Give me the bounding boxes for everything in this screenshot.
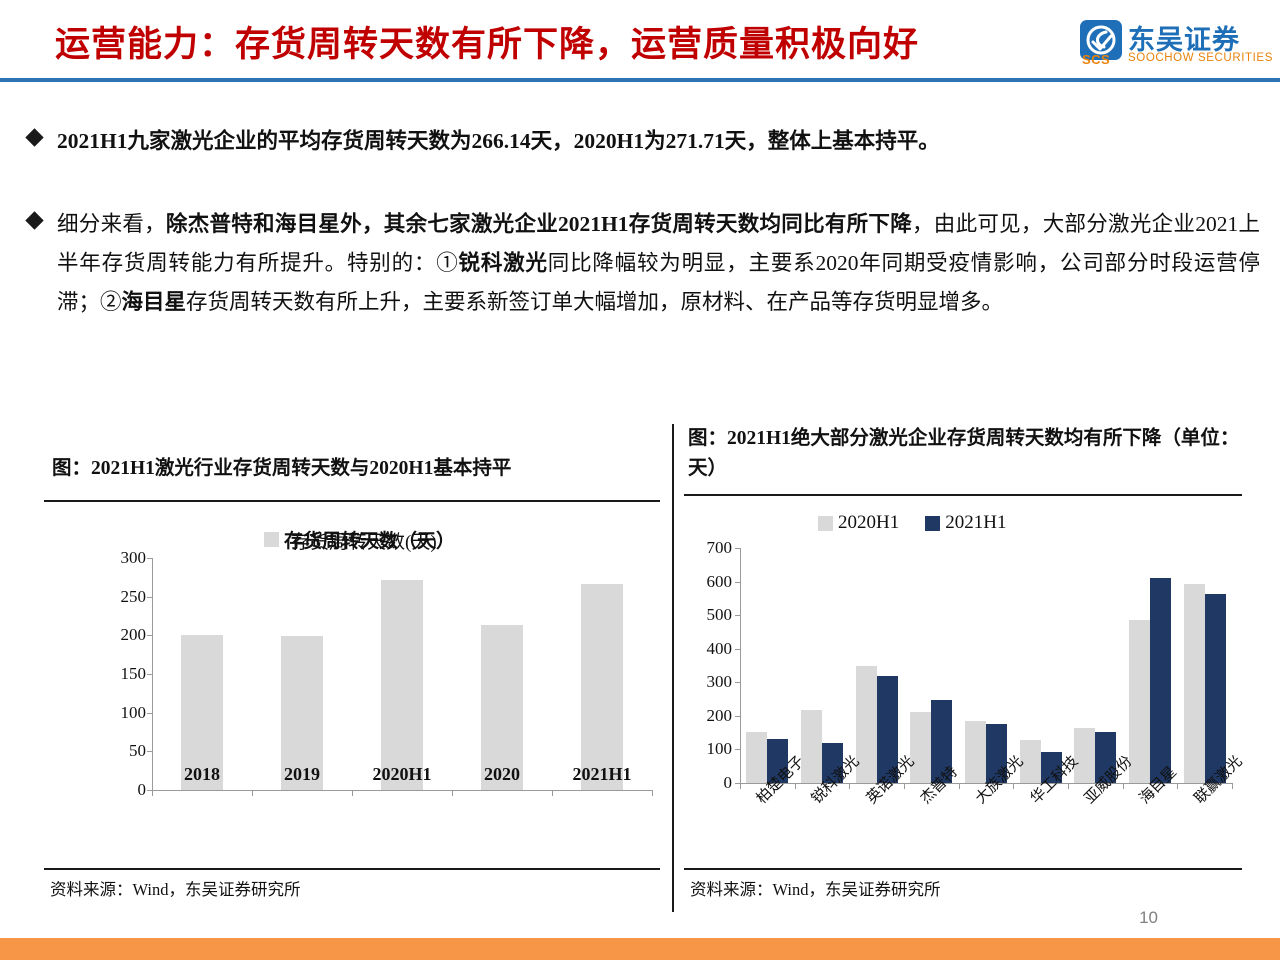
left-title-divider [44, 500, 660, 502]
bullet2-part1: 细分来看， [57, 212, 166, 236]
right-chart-plot-area [740, 548, 1232, 783]
x-axis-tick-mark [152, 790, 153, 796]
bullet2-bold1: 除杰普特和海目星外，其余七家激光企业2021H1存货周转天数均同比有所下降 [166, 212, 912, 236]
diamond-bullet-icon [25, 211, 43, 229]
y-axis-tick-label: 100 [100, 703, 146, 723]
bar-2020H1 [381, 580, 423, 790]
y-axis-tick-label: 300 [100, 548, 146, 568]
x-axis-label-2021H1: 2021H1 [547, 764, 657, 785]
y-axis-line [740, 548, 741, 783]
bullet2-bold2: 锐科激光 [459, 251, 548, 275]
logo-english-name: SOOCHOW SECURITIES [1128, 52, 1273, 64]
legend-item-inventory-days: 存货周转天数（天）存货周转天数(天) [264, 526, 455, 553]
x-axis-tick-mark [1068, 783, 1069, 789]
footer-accent-bar [0, 938, 1280, 960]
y-axis-tick-mark [735, 682, 741, 683]
x-axis-label-2018: 2018 [147, 764, 257, 785]
left-source-note: 资料来源：Wind，东吴证券研究所 [50, 876, 301, 900]
header-divider [0, 78, 1280, 82]
y-axis-tick-label: 500 [686, 605, 732, 625]
y-axis-tick-label: 100 [686, 739, 732, 759]
right-chart-title: 图：2021H1绝大部分激光企业存货周转天数均有所下降（单位：天） [688, 424, 1244, 484]
x-axis-tick-mark [252, 790, 253, 796]
bar-杰普特-2020H1 [910, 712, 931, 783]
bar-亚威股份-2020H1 [1074, 728, 1095, 783]
x-axis-label-2020: 2020 [447, 764, 557, 785]
bar-联赢激光-2021H1 [1205, 594, 1226, 783]
y-axis-tick-label: 600 [686, 572, 732, 592]
x-axis-tick-mark [1177, 783, 1178, 789]
x-axis-tick-mark [795, 783, 796, 789]
y-axis-tick-label: 400 [686, 639, 732, 659]
page-number: 10 [1139, 908, 1158, 928]
y-axis-tick-label: 700 [686, 538, 732, 558]
legend-swatch-icon [925, 516, 940, 531]
legend-label-2021h1: 2021H1 [945, 512, 1006, 534]
legend-label-inventory-days: 存货周转天数（天）存货周转天数(天) [284, 526, 455, 553]
legend-swatch-icon [818, 516, 833, 531]
x-axis-label-2019: 2019 [247, 764, 357, 785]
bar-联赢激光-2020H1 [1184, 584, 1205, 783]
y-axis-tick-mark [735, 749, 741, 750]
slide-header: 运营能力：存货周转天数有所下降，运营质量积极向好 SCS 东吴证券 SOOCHO… [0, 0, 1280, 88]
y-axis-tick-mark [735, 716, 741, 717]
x-axis-tick-mark [849, 783, 850, 789]
x-axis-line [152, 790, 652, 791]
y-axis-tick-mark [147, 558, 153, 559]
bar-锐科激光-2020H1 [801, 710, 822, 783]
right-source-divider [684, 868, 1242, 870]
panel-divider [672, 424, 674, 912]
x-axis-tick-mark [652, 790, 653, 796]
left-chart-plot-area [152, 558, 652, 790]
left-bar-chart: 存货周转天数（天）存货周转天数(天) 050100150200250300 20… [36, 520, 666, 860]
y-axis-tick-label: 50 [100, 741, 146, 761]
legend-item-2021h1: 2021H1 [925, 512, 1006, 534]
right-source-note: 资料来源：Wind，东吴证券研究所 [690, 876, 941, 900]
y-axis-tick-label: 150 [100, 664, 146, 684]
bar-海目星-2021H1 [1150, 578, 1171, 783]
y-axis-tick-label: 250 [100, 587, 146, 607]
left-chart-panel: 图：2021H1激光行业存货周转天数与2020H1基本持平 存货周转天数（天）存… [36, 424, 666, 912]
bar-海目星-2020H1 [1129, 620, 1150, 783]
left-chart-y-axis: 050100150200250300 [94, 558, 146, 790]
y-axis-tick-mark [735, 615, 741, 616]
y-axis-tick-label: 0 [100, 780, 146, 800]
y-axis-tick-label: 300 [686, 672, 732, 692]
right-chart-panel: 图：2021H1绝大部分激光企业存货周转天数均有所下降（单位：天） 2020H1… [680, 424, 1246, 912]
x-axis-tick-mark [352, 790, 353, 796]
bullet-text-1: 2021H1九家激光企业的平均存货周转天数为266.14天，2020H1为271… [57, 122, 940, 161]
left-chart-title: 图：2021H1激光行业存货周转天数与2020H1基本持平 [52, 454, 652, 484]
legend-label-ghost: 存货周转天数(天) [291, 527, 437, 554]
bullet-item-1: 2021H1九家激光企业的平均存货周转天数为266.14天，2020H1为271… [28, 122, 1258, 161]
bar-柏楚电子-2020H1 [746, 732, 767, 783]
bullet2-bold3: 海目星 [122, 290, 187, 314]
x-axis-tick-mark [904, 783, 905, 789]
y-axis-tick-mark [147, 674, 153, 675]
x-axis-tick-mark [740, 783, 741, 789]
legend-label-2020h1: 2020H1 [838, 512, 899, 534]
y-axis-tick-mark [147, 713, 153, 714]
y-axis-tick-label: 200 [686, 706, 732, 726]
soochow-securities-logo: SCS 东吴证券 SOOCHOW SECURITIES [1080, 18, 1270, 74]
bar-2021H1 [581, 584, 623, 790]
left-source-divider [44, 868, 660, 870]
bullet-text-2: 细分来看，除杰普特和海目星外，其余七家激光企业2021H1存货周转天数均同比有所… [57, 205, 1260, 322]
right-title-divider [684, 494, 1242, 496]
y-axis-tick-mark [147, 751, 153, 752]
legend-item-2020h1: 2020H1 [818, 512, 899, 534]
y-axis-tick-mark [735, 649, 741, 650]
x-axis-tick-mark [452, 790, 453, 796]
bullet2-part4: 存货周转天数有所上升，主要系新签订单大幅增加，原材料、在产品等存货明显增多。 [186, 290, 1003, 314]
y-axis-tick-mark [735, 582, 741, 583]
logo-abbr: SCS [1082, 52, 1110, 67]
legend-swatch-icon [264, 532, 279, 547]
y-axis-tick-mark [147, 597, 153, 598]
x-axis-label-2020H1: 2020H1 [347, 764, 457, 785]
y-axis-tick-mark [735, 548, 741, 549]
x-axis-tick-mark [552, 790, 553, 796]
y-axis-tick-mark [147, 635, 153, 636]
bullet-item-2: 细分来看，除杰普特和海目星外，其余七家激光企业2021H1存货周转天数均同比有所… [28, 205, 1260, 322]
x-axis-tick-mark [959, 783, 960, 789]
y-axis-tick-label: 200 [100, 625, 146, 645]
left-chart-legend: 存货周转天数（天）存货周转天数(天) [264, 526, 481, 553]
page-title: 运营能力：存货周转天数有所下降，运营质量积极向好 [55, 16, 919, 67]
right-chart-legend: 2020H1 2021H1 [818, 512, 1032, 534]
diamond-bullet-icon [25, 128, 43, 146]
x-axis-tick-mark [1232, 783, 1233, 789]
bar-大族激光-2020H1 [965, 721, 986, 783]
x-axis-tick-mark [1123, 783, 1124, 789]
right-chart-y-axis: 0100200300400500600700 [680, 548, 732, 783]
x-axis-tick-mark [1013, 783, 1014, 789]
y-axis-tick-label: 0 [686, 773, 732, 793]
right-bar-chart: 2020H1 2021H1 0100200300400500600700 柏楚电… [680, 508, 1246, 868]
